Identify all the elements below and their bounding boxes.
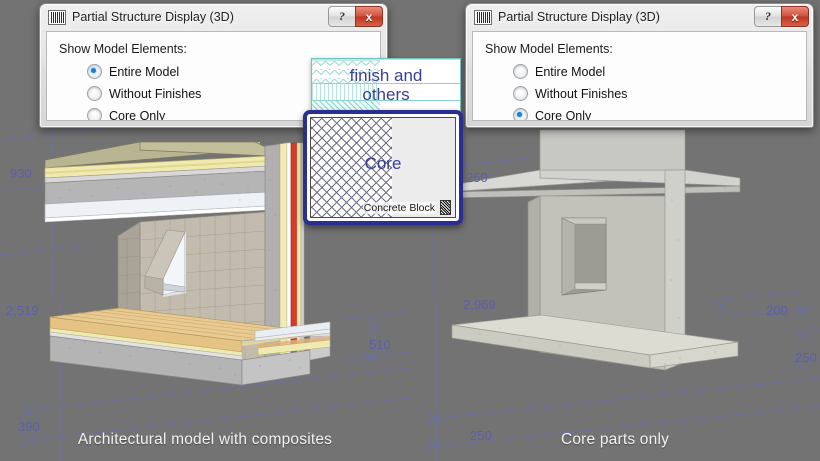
crosshatch-fill-icon	[440, 200, 451, 215]
dimension-label-510: 510	[369, 337, 391, 352]
ceiling-slab-composite	[45, 142, 268, 222]
radio-indicator-entire-model-right[interactable]	[513, 64, 528, 79]
radio-label-core-only-right: Core Only	[535, 109, 591, 122]
dimension-label-2969: 2,969	[463, 297, 496, 312]
radio-label-core-only-left: Core Only	[109, 109, 165, 122]
composite-structure-icon	[48, 10, 66, 25]
dialog-partial-structure-display-right[interactable]: Partial Structure Display (3D) ? x Show …	[465, 3, 814, 128]
dimension-label-250-top: 250	[466, 170, 488, 185]
core-ceiling-slab	[446, 130, 740, 198]
help-button-left[interactable]: ?	[328, 6, 355, 27]
dialog-title-left: Partial Structure Display (3D)	[72, 10, 234, 24]
composite-structure-icon	[474, 10, 492, 25]
dialog-title-right: Partial Structure Display (3D)	[498, 10, 660, 24]
core-label: Core	[311, 154, 455, 174]
dimension-label-930: 930	[10, 166, 32, 181]
finish-label-line1: finish and	[350, 66, 423, 85]
dimension-label-2519: 2,519	[6, 303, 39, 318]
composite-finish-layers-panel[interactable]: finish and others	[311, 58, 461, 112]
caption-buttons-left: ? x	[328, 6, 383, 27]
finish-layers-label: finish and others	[312, 59, 460, 111]
radio-label-without-finishes-left: Without Finishes	[109, 87, 201, 101]
radio-indicator-entire-model-left[interactable]	[87, 64, 102, 79]
radio-label-without-finishes-right: Without Finishes	[535, 87, 627, 101]
screenshot-stage: Architectural model with composites	[0, 0, 820, 461]
dimension-label-390: 390	[18, 419, 40, 434]
titlebar-right[interactable]: Partial Structure Display (3D) ? x	[467, 5, 812, 29]
radio-indicator-core-only-left[interactable]	[87, 108, 102, 121]
composite-core-layer-panel[interactable]: Core Concrete Block	[303, 110, 463, 225]
finish-label-line2: others	[362, 85, 409, 104]
radio-indicator-without-finishes-right[interactable]	[513, 86, 528, 101]
radio-core-only-left[interactable]: Core Only	[87, 108, 165, 121]
radio-indicator-core-only-right[interactable]	[513, 108, 528, 121]
radio-entire-model-right[interactable]: Entire Model	[513, 64, 605, 79]
help-button-right[interactable]: ?	[754, 6, 781, 27]
radio-indicator-without-finishes-left[interactable]	[87, 86, 102, 101]
caption-buttons-right: ? x	[754, 6, 809, 27]
core-material-row: Concrete Block	[363, 200, 451, 215]
dimension-label-250-right: 250	[795, 350, 817, 365]
radio-label-entire-model-left: Entire Model	[109, 65, 179, 79]
dimension-label-200: 200	[766, 303, 788, 318]
dialog-body-right: Show Model Elements: Entire Model Withou…	[472, 31, 807, 121]
core-material-label: Concrete Block	[363, 202, 436, 214]
close-button-right[interactable]: x	[781, 6, 809, 27]
dimension-label-250-bottom: 250	[470, 428, 492, 443]
titlebar-left[interactable]: Partial Structure Display (3D) ? x	[41, 5, 386, 29]
radio-core-only-right[interactable]: Core Only	[513, 108, 591, 121]
radio-label-entire-model-right: Entire Model	[535, 65, 605, 79]
group-label-left: Show Model Elements:	[59, 42, 187, 56]
radio-without-finishes-left[interactable]: Without Finishes	[87, 86, 201, 101]
left-caption: Architectural model with composites	[0, 431, 410, 449]
close-button-left[interactable]: x	[355, 6, 383, 27]
radio-entire-model-left[interactable]: Entire Model	[87, 64, 179, 79]
radio-without-finishes-right[interactable]: Without Finishes	[513, 86, 627, 101]
composite-core-inner: Core Concrete Block	[310, 117, 456, 218]
group-label-right: Show Model Elements:	[485, 42, 613, 56]
